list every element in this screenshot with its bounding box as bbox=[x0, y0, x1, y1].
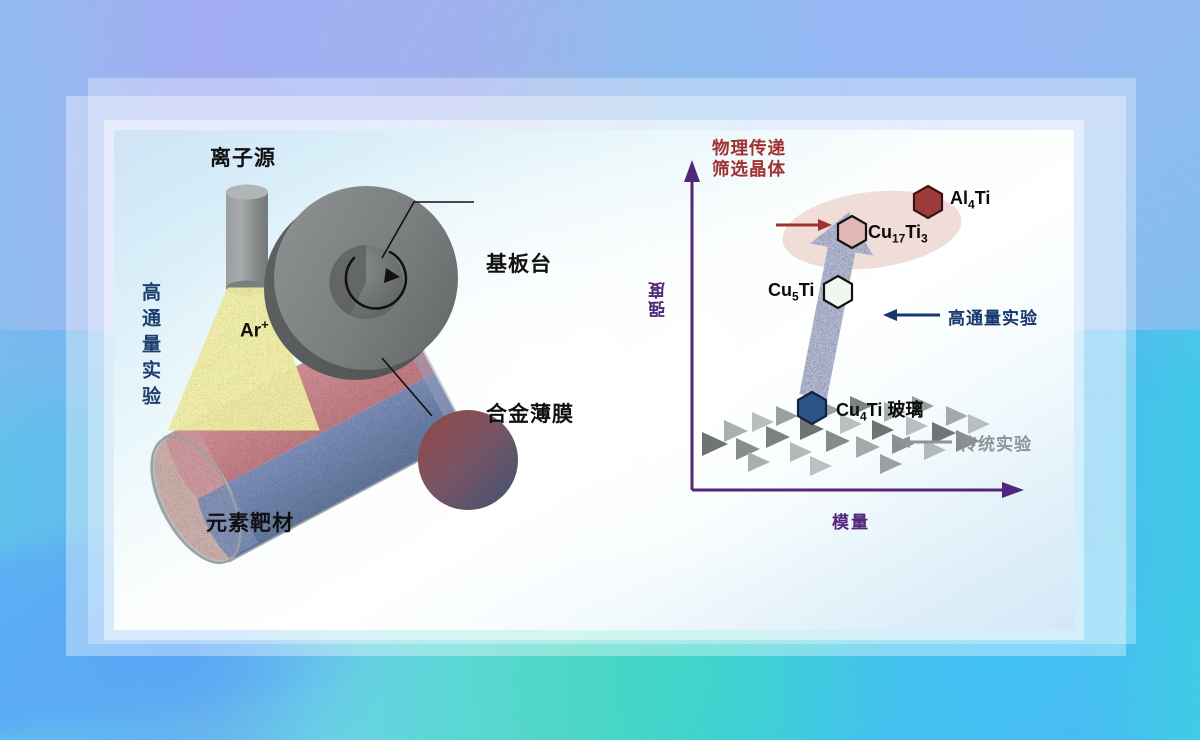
left-side-label: 高通量实验 bbox=[136, 282, 163, 412]
al4ti-tail: Ti bbox=[975, 188, 991, 208]
deposition-schematic-svg bbox=[114, 130, 634, 630]
cu4ti-el: Cu bbox=[836, 400, 860, 420]
cu4ti-tail: Ti 玻璃 bbox=[867, 400, 924, 420]
marker-cu5ti bbox=[824, 276, 852, 308]
cu5ti-sub: 5 bbox=[792, 290, 799, 304]
label-cu4ti-glass: Cu4Ti 玻璃 bbox=[836, 396, 923, 424]
ion-species-label: Ar+ bbox=[240, 317, 269, 342]
label-al4ti: Al4Ti bbox=[950, 188, 990, 212]
ion-source-label: 离子源 bbox=[210, 142, 276, 172]
ion-species-symbol: Ar bbox=[240, 320, 261, 341]
y-axis-arrowhead bbox=[684, 160, 700, 182]
cu17ti3-tail: Ti bbox=[905, 222, 921, 242]
film-label: 合金薄膜 bbox=[486, 398, 574, 428]
chart-svg bbox=[640, 130, 1080, 630]
al4ti-el: Al bbox=[950, 188, 968, 208]
marker-cu4ti bbox=[798, 392, 826, 424]
label-cu5ti: Cu5Ti bbox=[768, 280, 814, 304]
ion-source bbox=[226, 185, 268, 296]
physical-transfer-line-2: 筛选晶体 bbox=[712, 159, 786, 180]
traditional-note: 传统实验 bbox=[960, 430, 1032, 455]
cu17ti3-sub2: 3 bbox=[921, 232, 928, 246]
blue-arrowhead bbox=[883, 309, 897, 321]
cu5ti-tail: Ti bbox=[799, 280, 815, 300]
strength-modulus-chart: 物理传递 筛选晶体 高通量实验 传统实验 强度 模量 Al4Ti Cu17Ti3… bbox=[640, 130, 1080, 630]
y-axis-label: 强度 bbox=[646, 280, 671, 318]
cu4ti-sub: 4 bbox=[860, 410, 867, 424]
label-cu17ti3: Cu17Ti3 bbox=[868, 222, 928, 246]
cu17ti3-sub: 17 bbox=[892, 232, 905, 246]
physical-transfer-note: 物理传递 筛选晶体 bbox=[712, 138, 786, 181]
cu5ti-el: Cu bbox=[768, 280, 792, 300]
cu17ti3-el: Cu bbox=[868, 222, 892, 242]
figure-canvas: 高通量实验 离子源 Ar+ 元素靶材 基板台 合金薄膜 bbox=[0, 0, 1200, 740]
high-throughput-note: 高通量实验 bbox=[948, 304, 1038, 329]
deposition-schematic-panel: 高通量实验 离子源 Ar+ 元素靶材 基板台 合金薄膜 bbox=[114, 130, 634, 630]
marker-cu17ti3 bbox=[838, 216, 866, 248]
target-label: 元素靶材 bbox=[206, 507, 294, 537]
ion-species-charge: + bbox=[261, 317, 269, 332]
marker-al4ti bbox=[914, 186, 942, 218]
substrate-label: 基板台 bbox=[486, 248, 552, 278]
x-axis-label: 模量 bbox=[832, 508, 870, 533]
al4ti-sub: 4 bbox=[968, 198, 975, 212]
physical-transfer-line-1: 物理传递 bbox=[712, 138, 786, 159]
x-axis-arrowhead bbox=[1002, 482, 1024, 498]
